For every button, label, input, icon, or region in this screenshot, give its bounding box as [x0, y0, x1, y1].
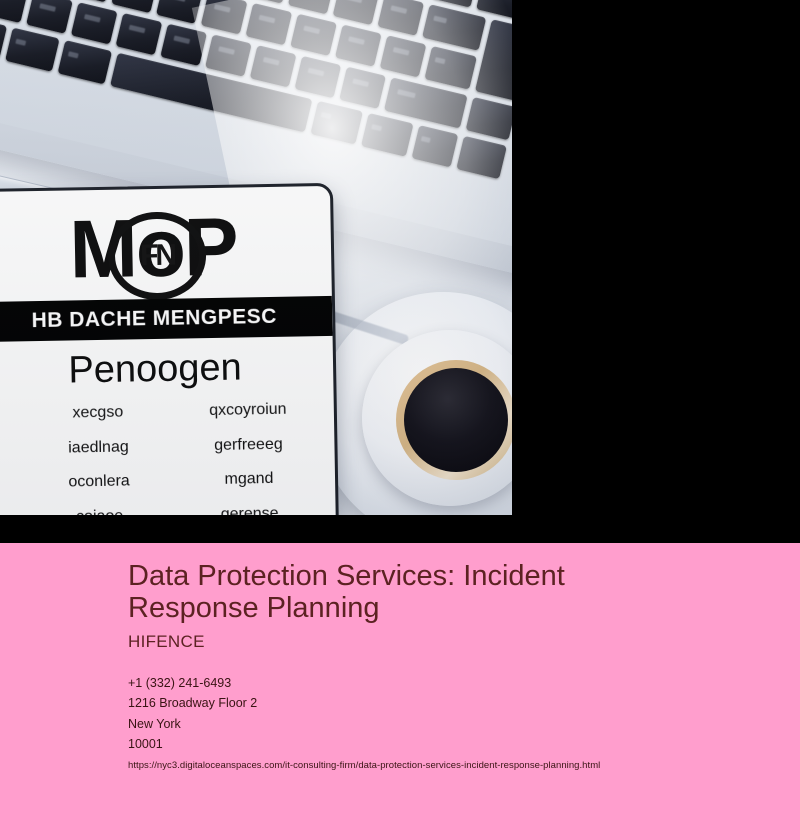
printed-card: MoP FN HB DACHE MENGPESC Penoogen xecgso… — [0, 183, 339, 515]
card-column-item: gerfreeeg — [180, 435, 316, 462]
source-url: https://nyc3.digitaloceanspaces.com/it-c… — [128, 760, 600, 771]
coffee-liquid — [404, 368, 508, 472]
page-title: Data Protection Services: Incident Respo… — [128, 560, 688, 625]
card-column-item: xecgso — [30, 403, 166, 430]
contact-city: New York — [128, 714, 748, 734]
card-band-text: HB DACHE MENGPESC — [0, 296, 333, 342]
source-url-text: https://nyc3.digitaloceanspaces.com/it-c… — [128, 760, 600, 771]
contact-phone: +1 (332) 241-6493 — [128, 673, 748, 693]
contact-zip: 10001 — [128, 734, 748, 754]
hero-photo: MoP FN HB DACHE MENGPESC Penoogen xecgso… — [0, 0, 512, 515]
card-columns: xecgso qxcoyroiun iaedlnag gerfreeeg oco… — [30, 400, 318, 515]
info-panel: Data Protection Services: Incident Respo… — [0, 543, 800, 840]
card-logo: MoP FN — [0, 190, 332, 308]
photo-stage: MoP FN HB DACHE MENGPESC Penoogen xecgso… — [0, 0, 800, 543]
card-column-item: mgand — [181, 469, 317, 496]
card-column-item: oconlera — [31, 472, 167, 499]
card-column-item: iaedlnag — [30, 437, 166, 464]
card-column-item: qxcoyroiun — [180, 400, 316, 427]
contact-street: 1216 Broadway Floor 2 — [128, 693, 748, 713]
card-column-item: coiaoe — [32, 506, 168, 515]
card-subtitle-text: Penoogen — [0, 338, 334, 400]
contact-block: +1 (332) 241-6493 1216 Broadway Floor 2 … — [128, 673, 748, 754]
card-column-item: gerense — [182, 504, 318, 515]
brand-name: HIFENCE — [128, 632, 205, 652]
